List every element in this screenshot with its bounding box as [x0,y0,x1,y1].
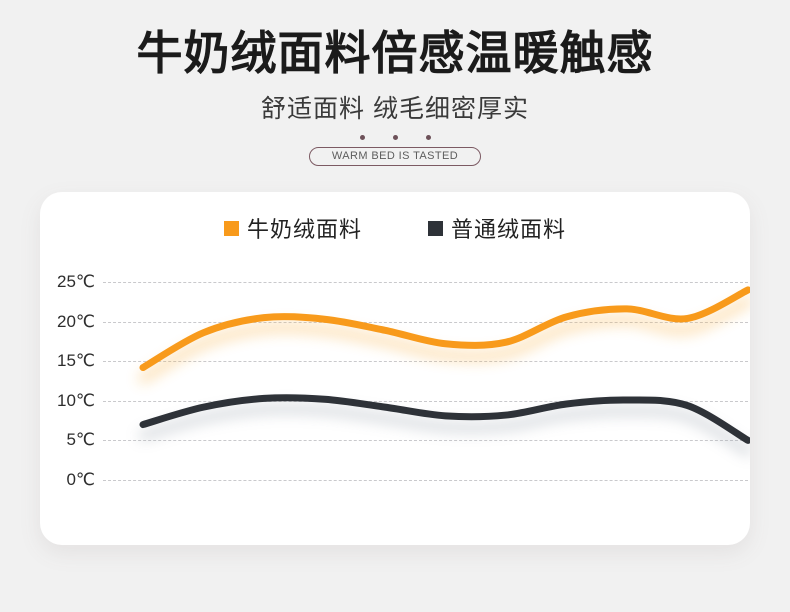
dot-icon [393,135,398,140]
chart-card: 牛奶绒面料 普通绒面料 25℃20℃15℃10℃5℃0℃ [40,192,750,545]
dot-icon [426,135,431,140]
page-title: 牛奶绒面料倍感温暖触感 [0,26,790,80]
page-subtitle: 舒适面料 绒毛细密厚实 [0,89,790,125]
legend-item-ordinary-velvet: 普通绒面料 [428,212,566,244]
legend-swatch-icon [224,221,239,236]
header: 牛奶绒面料倍感温暖触感 舒适面料 绒毛细密厚实 WARM BED IS TAST… [0,0,790,166]
legend-label: 牛奶绒面料 [247,212,362,244]
chart-plot-area: 25℃20℃15℃10℃5℃0℃ [40,270,750,508]
decorative-dots [0,135,790,140]
series-line-ordinary-velvet [143,398,748,441]
legend-item-milk-velvet: 牛奶绒面料 [224,212,362,244]
chart-lines [40,270,750,508]
badge-container: WARM BED IS TASTED [0,147,790,166]
dot-icon [360,135,365,140]
product-detail-page: 牛奶绒面料倍感温暖触感 舒适面料 绒毛细密厚实 WARM BED IS TAST… [0,0,790,612]
tagline-badge: WARM BED IS TASTED [309,147,481,166]
legend-swatch-icon [428,221,443,236]
chart-legend: 牛奶绒面料 普通绒面料 [40,212,750,244]
legend-label: 普通绒面料 [451,212,566,244]
